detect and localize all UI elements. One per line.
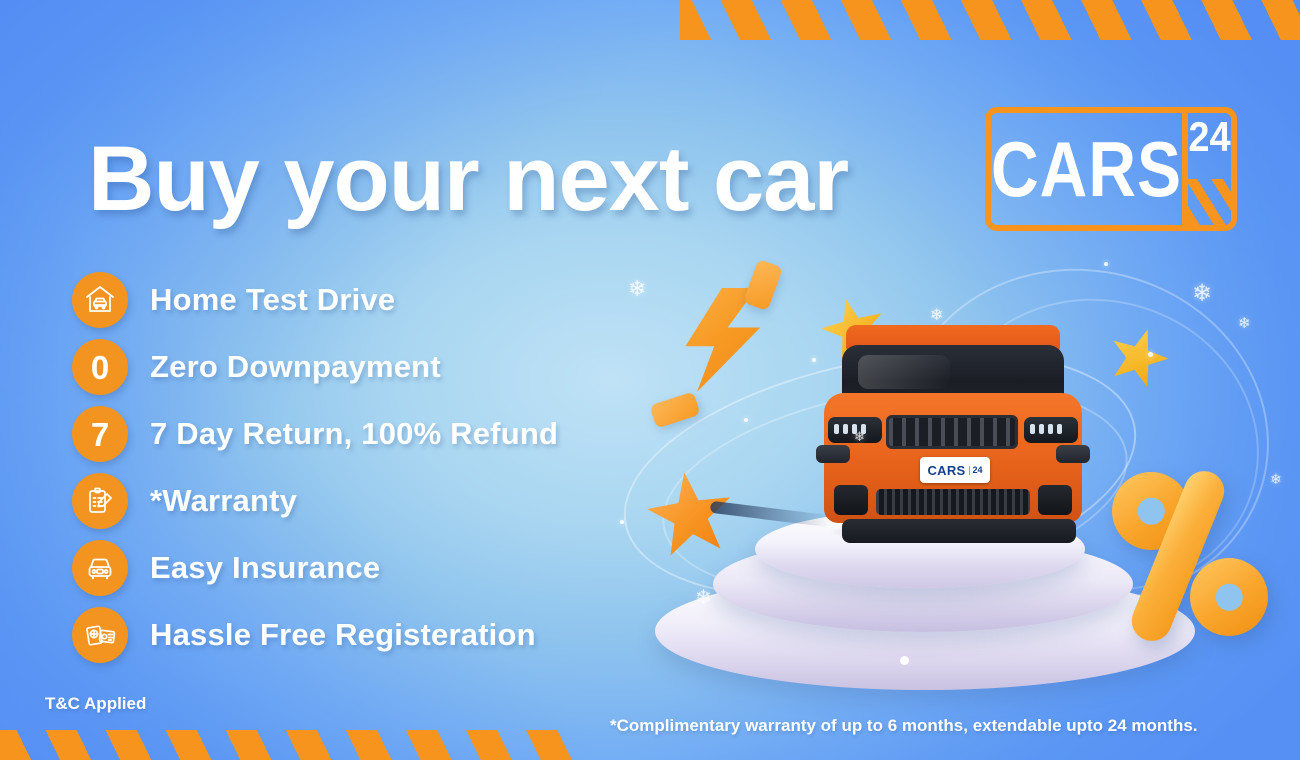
headlight-left bbox=[828, 417, 882, 443]
feature-label: Zero Downpayment bbox=[150, 349, 441, 385]
cars24-logo[interactable]: CARS 24 bbox=[985, 107, 1237, 231]
sparkle-dot bbox=[1148, 352, 1153, 357]
feature-label: *Warranty bbox=[150, 483, 297, 519]
logo-diagonal-stripes-icon bbox=[1188, 179, 1231, 225]
feature-label: Hassle Free Registeration bbox=[150, 617, 536, 653]
logo-number-box: 24 bbox=[1188, 113, 1231, 225]
clipboard-pen-icon bbox=[72, 473, 128, 529]
badge-number: 0 bbox=[91, 351, 109, 384]
car-body: CARS 24 bbox=[824, 393, 1082, 523]
sparkle-dot bbox=[1104, 262, 1108, 266]
feature-item-warranty[interactable]: *Warranty bbox=[72, 473, 558, 529]
feature-item-easy-insurance[interactable]: Easy Insurance bbox=[72, 540, 558, 596]
sparkle-dot bbox=[812, 358, 816, 362]
home-car-icon bbox=[72, 272, 128, 328]
logo-word: CARS bbox=[991, 130, 1182, 208]
documents-icon bbox=[72, 607, 128, 663]
bottom-diagonal-stripes bbox=[0, 730, 585, 760]
sparkle-dot bbox=[744, 418, 748, 422]
headlight-right bbox=[1024, 417, 1078, 443]
feature-label: 7 Day Return, 100% Refund bbox=[150, 416, 558, 452]
percent-sign-3d-icon bbox=[1112, 470, 1272, 640]
page-title: Buy your next car bbox=[88, 133, 848, 225]
feature-label: Home Test Drive bbox=[150, 282, 395, 318]
podium-highlight-dot bbox=[900, 656, 909, 665]
sparkle-dot bbox=[620, 520, 624, 524]
feature-label: Easy Insurance bbox=[150, 550, 380, 586]
logo-word-box: CARS bbox=[991, 113, 1188, 225]
hero-artwork: CARS 24 bbox=[600, 240, 1300, 690]
feature-item-registration[interactable]: Hassle Free Registeration bbox=[72, 607, 558, 663]
badge-number: 7 bbox=[91, 418, 109, 451]
car-bumper bbox=[842, 519, 1076, 543]
percent-ring-bottom bbox=[1190, 558, 1268, 636]
orange-suv-image: CARS 24 bbox=[818, 325, 1088, 540]
car-grille bbox=[886, 415, 1018, 449]
top-diagonal-stripes bbox=[680, 0, 1300, 40]
terms-note: T&C Applied bbox=[45, 694, 146, 714]
logo-number: 24 bbox=[1188, 117, 1230, 159]
feature-item-home-test-drive[interactable]: Home Test Drive bbox=[72, 272, 558, 328]
car-front-icon bbox=[72, 540, 128, 596]
warranty-disclaimer: *Complimentary warranty of up to 6 month… bbox=[610, 716, 1198, 736]
seven-number-icon: 7 bbox=[72, 406, 128, 462]
bolt-shard bbox=[743, 259, 783, 311]
plate-word: CARS bbox=[927, 464, 965, 477]
car-lower-grille bbox=[876, 489, 1030, 515]
car-air-vent-left bbox=[834, 485, 868, 515]
feature-list: Home Test Drive 0 Zero Downpayment 7 7 D… bbox=[72, 272, 558, 674]
feature-item-zero-downpayment[interactable]: 0 Zero Downpayment bbox=[72, 339, 558, 395]
cars24-promo-banner: Buy your next car CARS 24 bbox=[0, 0, 1300, 760]
feature-item-seven-day-return[interactable]: 7 7 Day Return, 100% Refund bbox=[72, 406, 558, 462]
car-air-vent-right bbox=[1038, 485, 1072, 515]
zero-number-icon: 0 bbox=[72, 339, 128, 395]
car-mirror-right bbox=[1056, 445, 1090, 463]
license-plate: CARS 24 bbox=[920, 457, 990, 483]
car-mirror-left bbox=[816, 445, 850, 463]
plate-number: 24 bbox=[969, 466, 983, 475]
